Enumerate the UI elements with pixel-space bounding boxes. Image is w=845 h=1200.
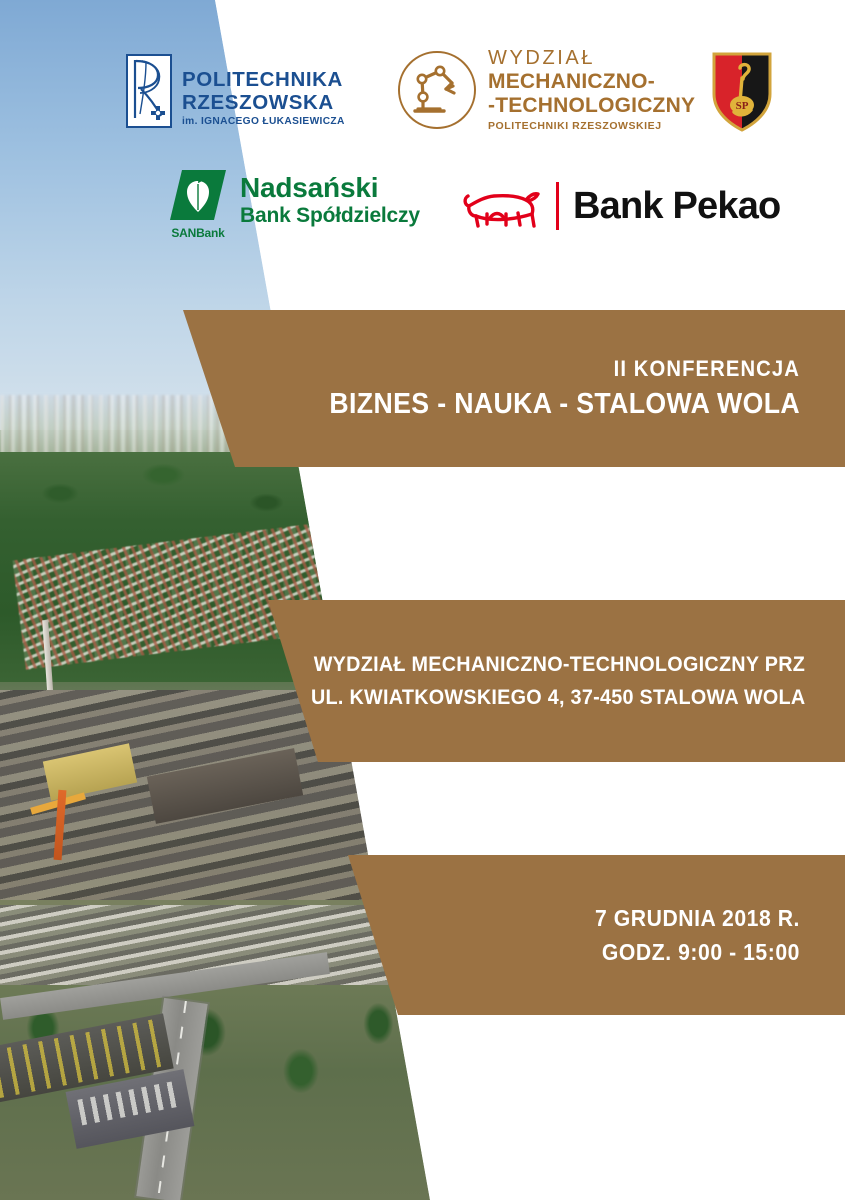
heraldic-shield-icon: SP bbox=[710, 50, 774, 134]
sponsor-logo-row-secondary: SANBank Nadsański Bank Spółdzielczy bbox=[160, 160, 820, 255]
pr-monogram-icon bbox=[126, 54, 172, 128]
yellow-factory-hall bbox=[43, 743, 137, 800]
sponsor-logo-row-primary: POLITECHNIKA RZESZOWSKA im. IGNACEGO ŁUK… bbox=[118, 42, 818, 152]
logo-wmt-line1: WYDZIAŁ bbox=[488, 48, 695, 68]
logo-wydzial-mechaniczno-technologiczny: WYDZIAŁ MECHANICZNO- -TECHNOLOGICZNY POL… bbox=[398, 48, 695, 132]
logo-prz-line3: im. IGNACEGO ŁUKASIEWICZA bbox=[182, 114, 345, 129]
venue-line1: WYDZIAŁ MECHANICZNO-TECHNOLOGICZNY PRZ bbox=[314, 648, 805, 681]
banner-conference-title: II KONFERENCJA BIZNES - NAUKA - STALOWA … bbox=[183, 310, 845, 467]
apple-leaf-mark-icon: SANBank bbox=[168, 168, 228, 240]
bison-icon bbox=[460, 180, 542, 232]
logo-sanbank-wordmark: Nadsański Bank Spółdzielczy bbox=[240, 168, 420, 229]
logo-nadsanski-bank-spoldzielczy: SANBank Nadsański Bank Spółdzielczy bbox=[168, 168, 420, 240]
sanbank-label: SANBank bbox=[168, 226, 228, 240]
logo-bank-pekao: Bank Pekao bbox=[460, 180, 780, 232]
conference-title: BIZNES - NAUKA - STALOWA WOLA bbox=[232, 384, 800, 424]
venue-line2: UL. KWIATKOWSKIEGO 4, 37-450 STALOWA WOL… bbox=[311, 681, 805, 714]
date-line: 7 GRUDNIA 2018 R. bbox=[384, 901, 800, 935]
banner-venue: WYDZIAŁ MECHANICZNO-TECHNOLOGICZNY PRZ U… bbox=[268, 600, 845, 762]
lower-greenery-region bbox=[0, 985, 430, 1200]
robot-arm-icon bbox=[398, 51, 476, 129]
logo-prz-line2: RZESZOWSKA bbox=[182, 91, 345, 114]
logo-sanbank-line2: Bank Spółdzielczy bbox=[240, 203, 420, 229]
time-line: GODZ. 9:00 - 15:00 bbox=[384, 935, 800, 969]
logo-wmt-line2: MECHANICZNO- bbox=[488, 71, 695, 92]
pekao-divider bbox=[556, 182, 559, 230]
logo-prz-wordmark: POLITECHNIKA RZESZOWSKA im. IGNACEGO ŁUK… bbox=[182, 54, 345, 129]
logo-heraldic-crest: SP bbox=[710, 50, 774, 134]
conference-kicker: II KONFERENCJA bbox=[232, 354, 800, 384]
logo-wmt-line3: -TECHNOLOGICZNY bbox=[488, 95, 695, 116]
conference-poster: POLITECHNIKA RZESZOWSKA im. IGNACEGO ŁUK… bbox=[0, 0, 845, 1200]
logo-wmt-wordmark: WYDZIAŁ MECHANICZNO- -TECHNOLOGICZNY POL… bbox=[488, 48, 695, 132]
logo-pekao-wordmark: Bank Pekao bbox=[573, 187, 780, 225]
logo-politechnika-rzeszowska: POLITECHNIKA RZESZOWSKA im. IGNACEGO ŁUK… bbox=[126, 54, 345, 129]
logo-prz-line1: POLITECHNIKA bbox=[182, 68, 345, 91]
dark-factory-hall bbox=[147, 748, 303, 824]
logo-wmt-line4: POLITECHNIKI RZESZOWSKIEJ bbox=[488, 121, 695, 132]
svg-text:SP: SP bbox=[736, 100, 749, 112]
banner-date-time: 7 GRUDNIA 2018 R. GODZ. 9:00 - 15:00 bbox=[348, 855, 845, 1015]
logo-sanbank-line1: Nadsański bbox=[240, 172, 420, 203]
